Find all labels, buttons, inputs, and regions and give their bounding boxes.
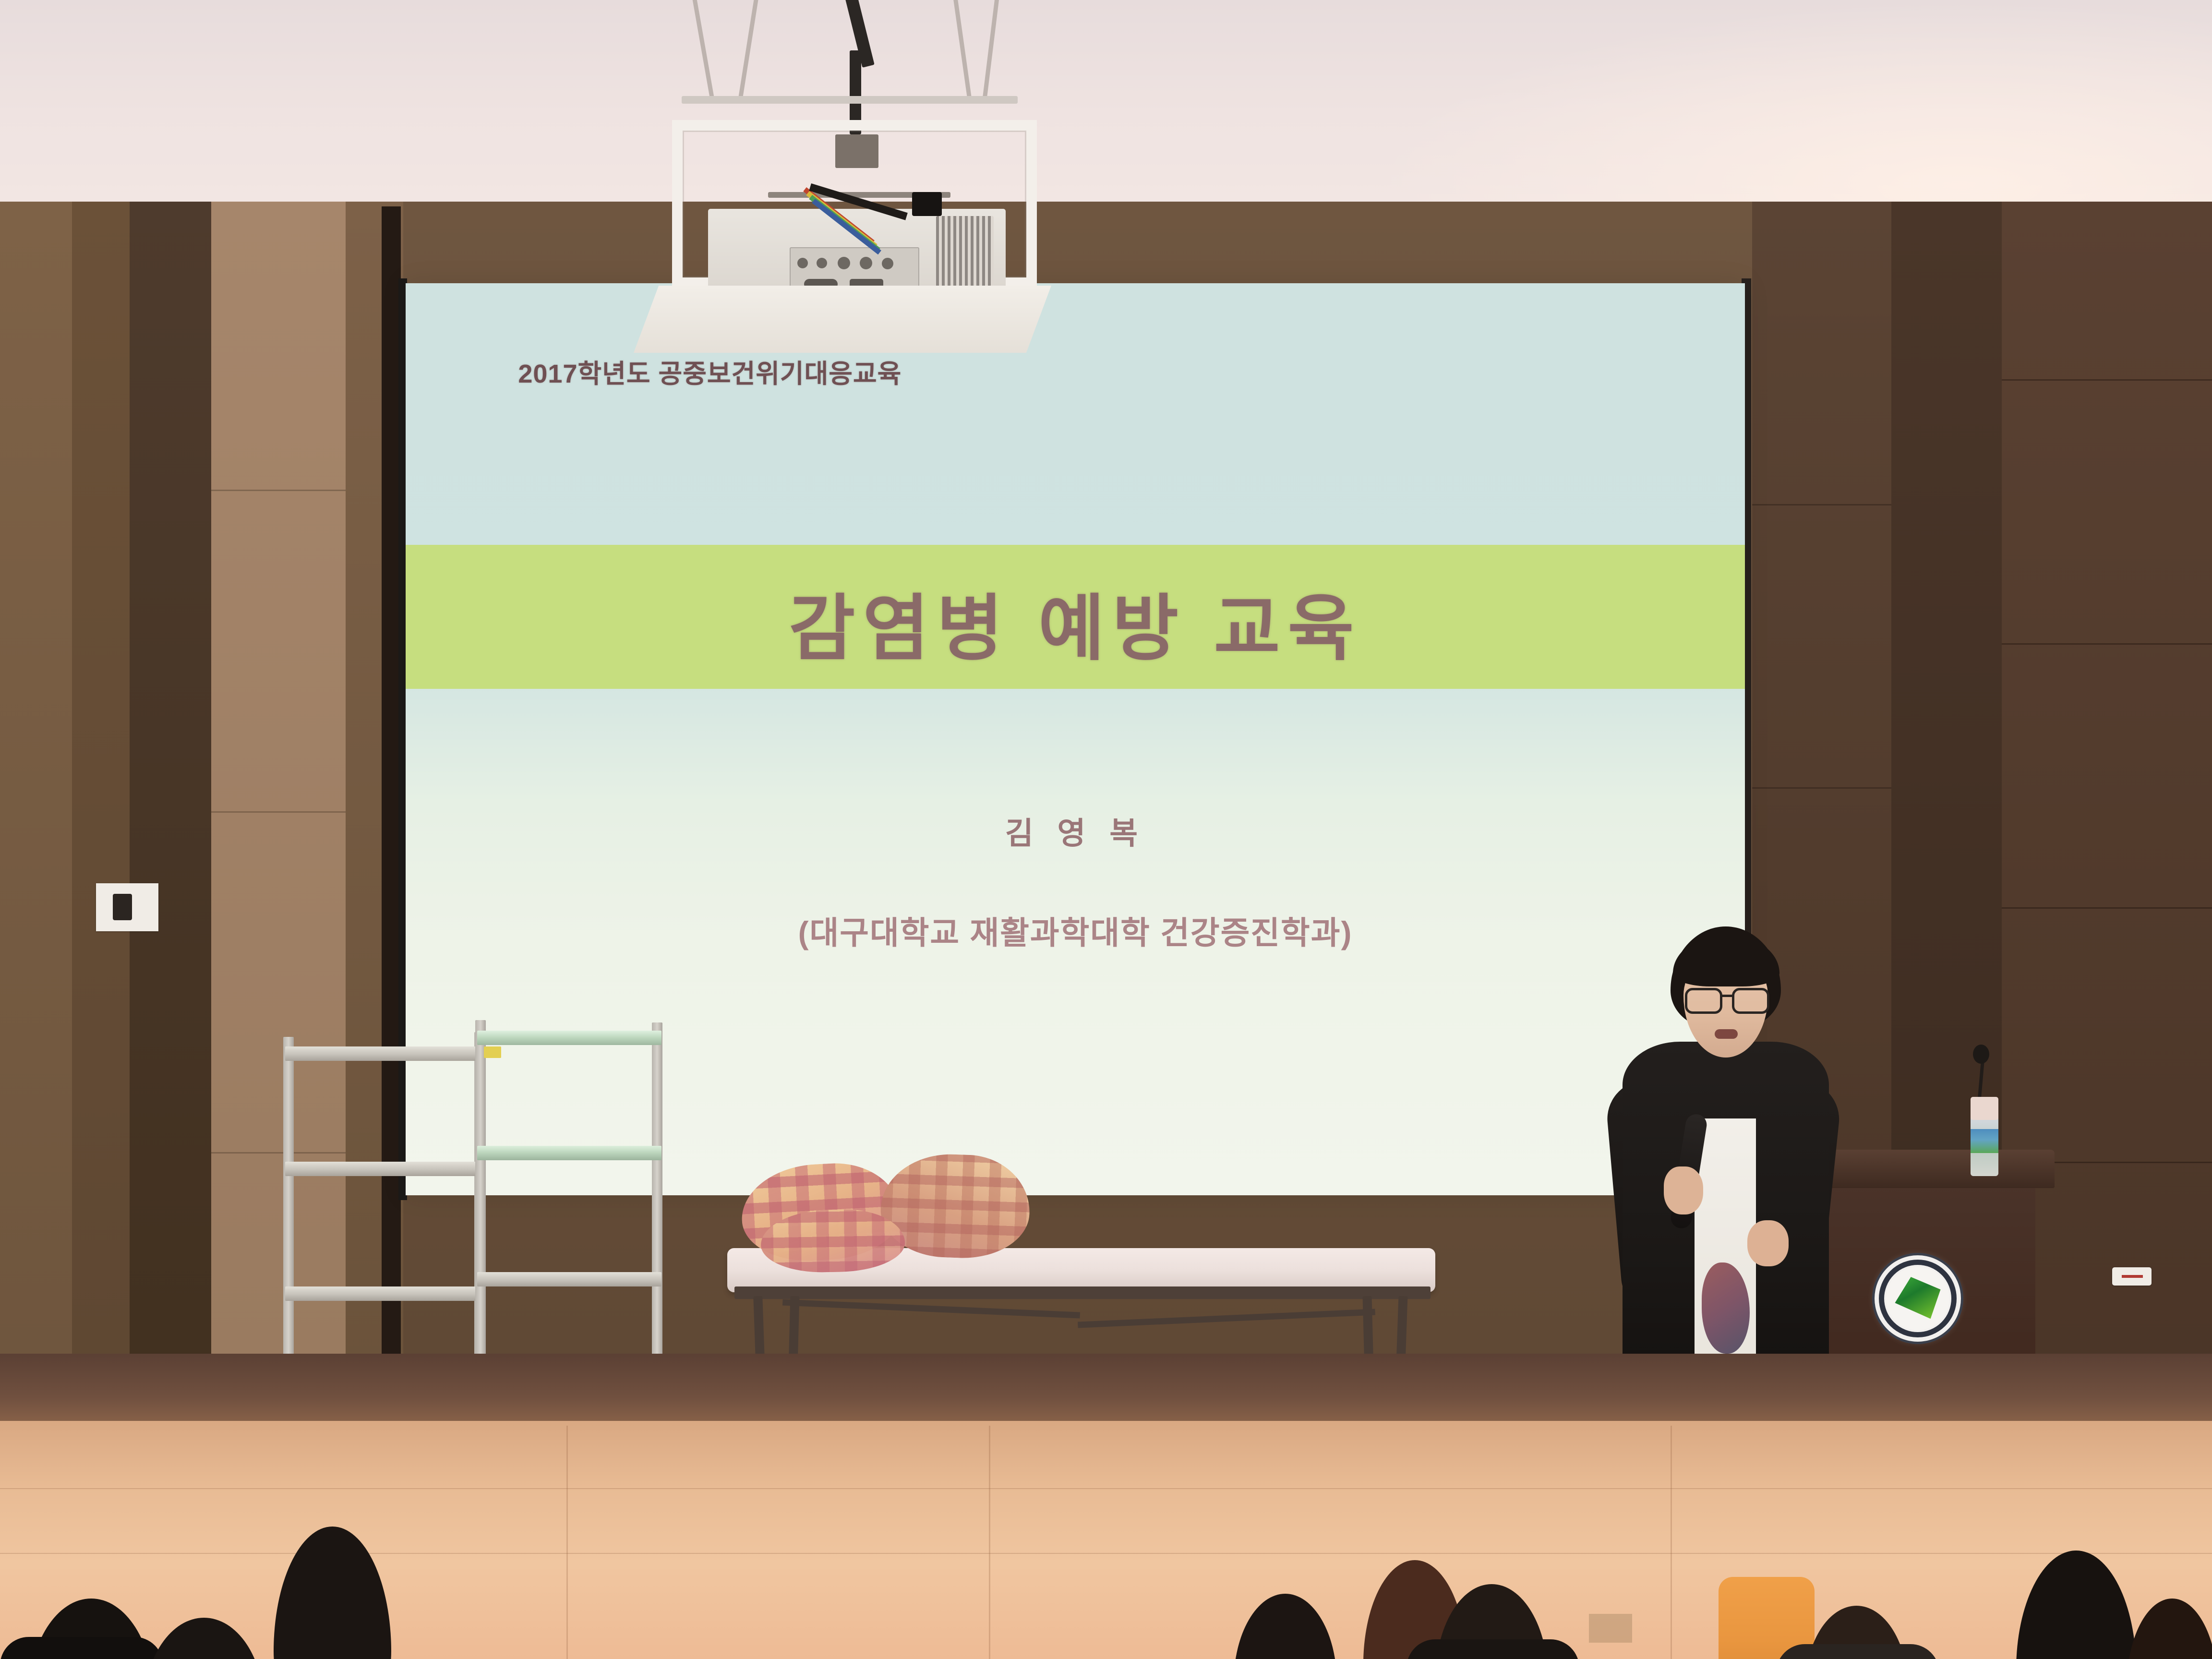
- wall-panel: [72, 202, 130, 1431]
- wall-seam: [1752, 504, 1891, 505]
- glasses-right-lens: [1732, 988, 1769, 1014]
- folding-table-apron: [734, 1286, 1431, 1299]
- projector-cables: [806, 187, 917, 283]
- rack-shelf: [285, 1162, 484, 1176]
- wall-outlet-slot: [113, 894, 132, 920]
- presenter-mouth: [1715, 1029, 1738, 1039]
- slide-main-title: 감염병 예방 교육: [406, 570, 1745, 674]
- rack-shelf: [477, 1272, 661, 1286]
- glasses-left-lens: [1685, 988, 1722, 1014]
- presenter-glasses: [1685, 988, 1767, 1009]
- slide-header-text: 2017학년도 공중보건위기대응교육: [518, 352, 902, 390]
- projector-mount-bracket: [835, 134, 878, 168]
- floor-board-line: [989, 1426, 990, 1659]
- podium-gooseneck-mic-head: [1973, 1045, 1989, 1064]
- projector-suspension-rod: [692, 0, 714, 98]
- emblem-inner-field: [1886, 1267, 1949, 1330]
- ceiling-mounted-projector: [624, 0, 1085, 305]
- floor-patch: [1589, 1614, 1632, 1643]
- audience-shoulders: [1776, 1644, 1939, 1659]
- floor-seam: [0, 1488, 2212, 1489]
- emblem-green-shape: [1895, 1277, 1940, 1319]
- lecture-hall-scene: 2017학년도 공중보건위기대응교육 감염병 예방 교육 김 영 복 (대구대학…: [0, 0, 2212, 1659]
- glasses-bridge: [1720, 995, 1733, 997]
- slide-affiliation: (대구대학교 재활과학대학 건강증진학과): [406, 907, 1745, 953]
- water-bottle-cap: [1971, 1097, 1998, 1120]
- rack-shelf: [285, 1046, 484, 1061]
- slide-presenter-name: 김 영 복: [406, 809, 1745, 853]
- rack-shelf: [477, 1031, 661, 1045]
- presenter-right-hand: [1747, 1220, 1789, 1266]
- projector-cable-connector: [912, 192, 942, 216]
- rack-shelf: [285, 1286, 484, 1301]
- wall-seam: [2002, 643, 2212, 645]
- projector-mount-bar: [682, 96, 1018, 104]
- wall-seam: [211, 811, 346, 813]
- wall-seam: [211, 490, 346, 491]
- rack-shelf: [477, 1146, 661, 1160]
- water-bottle-label: [1971, 1129, 1998, 1153]
- audience-shoulders: [0, 1637, 163, 1659]
- wall-switch-indicator: [2122, 1275, 2143, 1278]
- projector-suspension-rod: [983, 0, 999, 98]
- presenter-left-hand: [1664, 1166, 1703, 1214]
- wall-panel: [0, 202, 72, 1431]
- wall-seam: [1752, 787, 1891, 789]
- audience-shoulders: [1407, 1639, 1579, 1659]
- floor-board-line: [566, 1426, 568, 1659]
- projector-suspension-rod: [738, 0, 759, 98]
- rack-label-tag: [484, 1046, 501, 1058]
- ceiling-light-glow: [1371, 0, 2212, 206]
- projector-lens-hood: [634, 286, 1051, 353]
- wall-seam: [2002, 907, 2212, 909]
- daegu-university-emblem: [1875, 1255, 1961, 1342]
- projector-suspension-rod: [953, 0, 972, 98]
- stage-wall-base: [0, 1354, 2212, 1426]
- floor-board-line: [1671, 1426, 1672, 1659]
- wall-seam: [2002, 379, 2212, 381]
